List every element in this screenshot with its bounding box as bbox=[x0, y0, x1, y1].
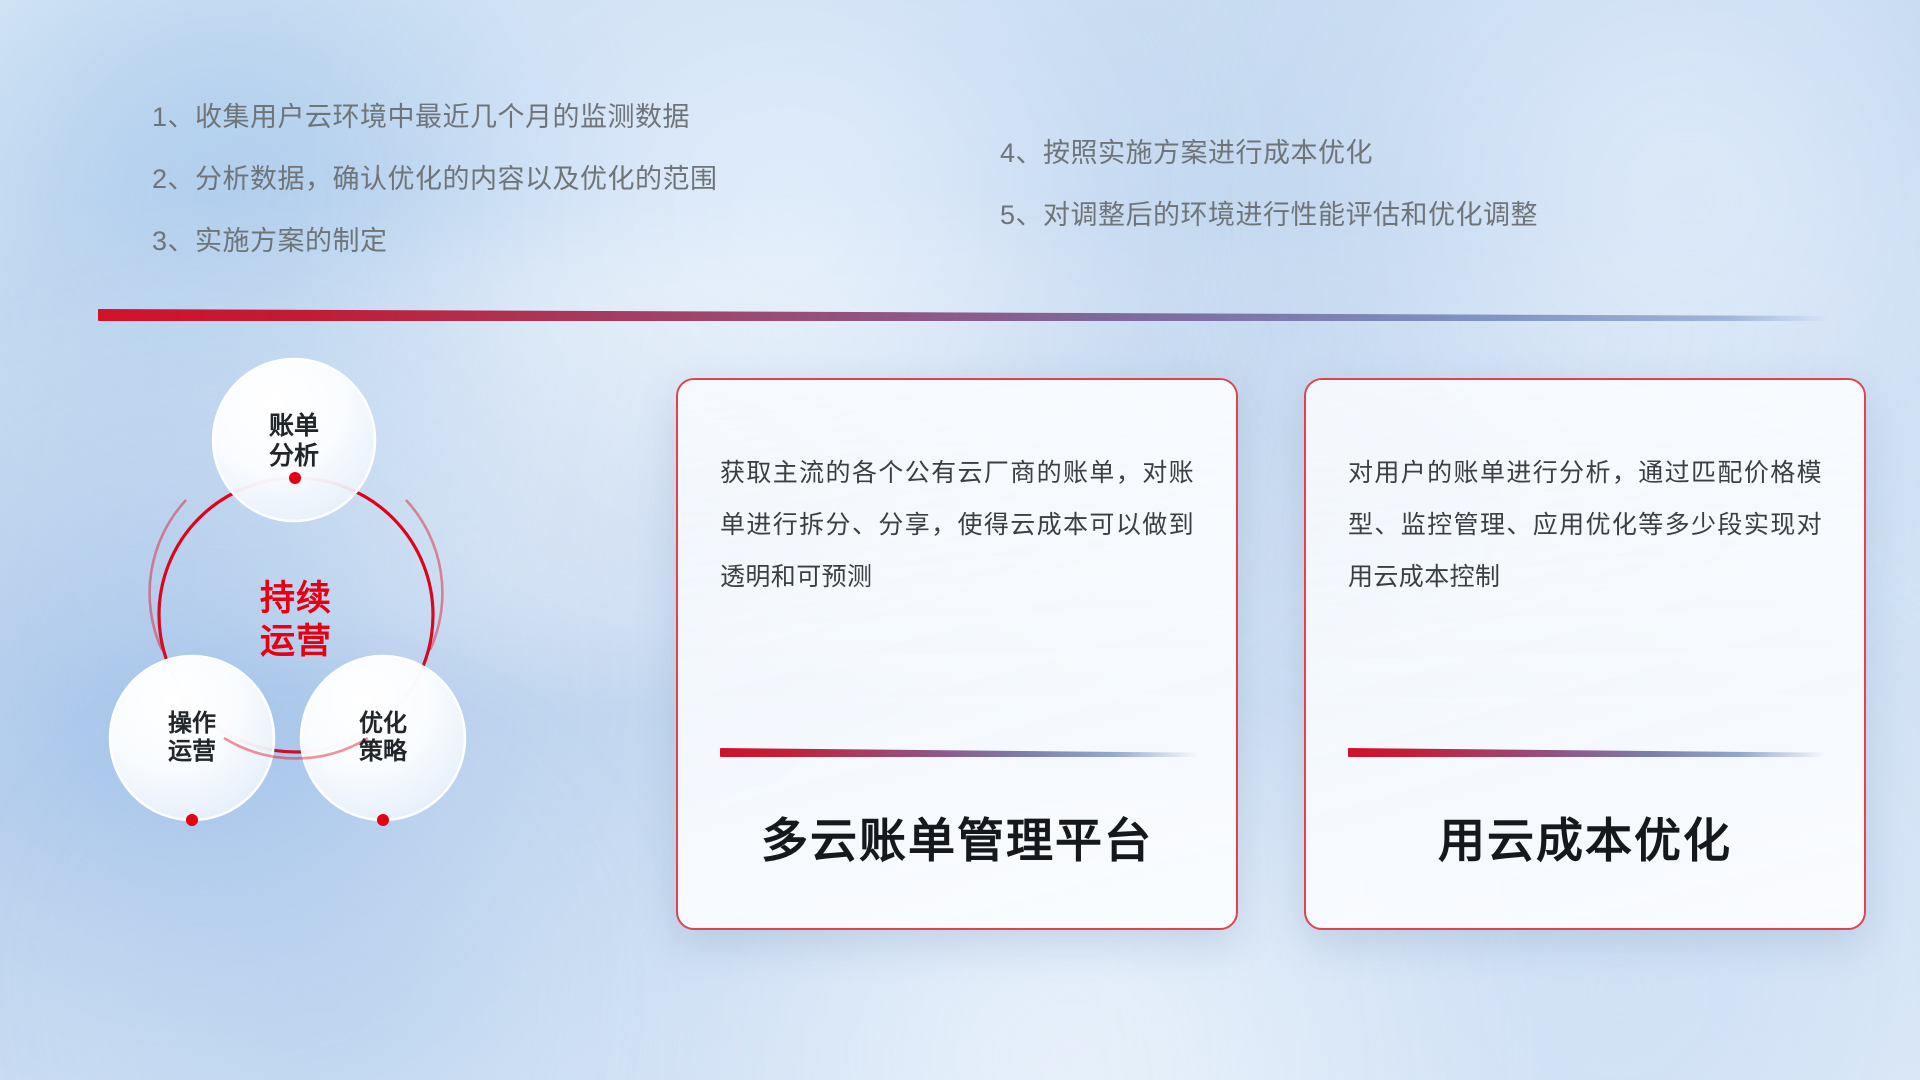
step-item-5: 5、对调整后的环境进行性能评估和优化调整 bbox=[1000, 202, 1538, 229]
step-item-1: 1、收集用户云环境中最近几个月的监测数据 bbox=[152, 104, 718, 131]
venn-label-optimization-strategy-line1: 优化 bbox=[333, 710, 433, 738]
card-multi-cloud-billing-title: 多云账单管理平台 bbox=[678, 802, 1236, 871]
slide-content: 1、收集用户云环境中最近几个月的监测数据 2、分析数据，确认优化的内容以及优化的… bbox=[0, 0, 1920, 1080]
step-item-3: 3、实施方案的制定 bbox=[152, 228, 718, 255]
card-multi-cloud-billing-divider-bar bbox=[720, 748, 1198, 757]
card-multi-cloud-billing-divider bbox=[720, 748, 1198, 757]
venn-diagram: 账单 分析 操作 运营 优化 策略 持续 运营 bbox=[96, 350, 656, 930]
venn-label-operation-line1: 操作 bbox=[142, 710, 242, 738]
venn-label-center-line1: 持续 bbox=[226, 578, 366, 621]
venn-label-optimization-strategy-line2: 策略 bbox=[333, 738, 433, 766]
card-cloud-cost-optimization-divider-bar bbox=[1348, 748, 1826, 757]
section-divider bbox=[98, 309, 1830, 321]
card-cloud-cost-optimization-divider bbox=[1348, 748, 1826, 757]
venn-node-dot-top bbox=[289, 472, 301, 484]
card-cloud-cost-optimization[interactable]: 对用户的账单进行分析，通过匹配价格模型、监控管理、应用优化等多少段实现对用云成本… bbox=[1304, 378, 1866, 930]
steps-left-column: 1、收集用户云环境中最近几个月的监测数据 2、分析数据，确认优化的内容以及优化的… bbox=[152, 104, 718, 290]
venn-label-optimization-strategy: 优化 策略 bbox=[333, 710, 433, 767]
card-multi-cloud-billing-body: 获取主流的各个公有云厂商的账单，对账单进行拆分、分享，使得云成本可以做到透明和可… bbox=[678, 380, 1236, 603]
step-item-2: 2、分析数据，确认优化的内容以及优化的范围 bbox=[152, 166, 718, 193]
venn-label-bill-analysis-line2: 分析 bbox=[244, 442, 344, 472]
step-item-4: 4、按照实施方案进行成本优化 bbox=[1000, 140, 1538, 167]
venn-label-operation-line2: 运营 bbox=[142, 738, 242, 766]
venn-diagram-svg bbox=[96, 350, 656, 930]
steps-right-column: 4、按照实施方案进行成本优化 5、对调整后的环境进行性能评估和优化调整 bbox=[1000, 140, 1538, 264]
venn-node-dot-right bbox=[377, 814, 389, 826]
venn-label-center-line2: 运营 bbox=[226, 621, 366, 664]
venn-label-bill-analysis: 账单 分析 bbox=[244, 412, 344, 471]
venn-node-dot-left bbox=[186, 814, 198, 826]
card-multi-cloud-billing[interactable]: 获取主流的各个公有云厂商的账单，对账单进行拆分、分享，使得云成本可以做到透明和可… bbox=[676, 378, 1238, 930]
cards-section: 获取主流的各个公有云厂商的账单，对账单进行拆分、分享，使得云成本可以做到透明和可… bbox=[676, 378, 1866, 930]
venn-label-bill-analysis-line1: 账单 bbox=[244, 412, 344, 442]
section-divider-bar bbox=[98, 309, 1830, 321]
card-cloud-cost-optimization-title: 用云成本优化 bbox=[1306, 802, 1864, 871]
venn-label-center: 持续 运营 bbox=[226, 578, 366, 663]
venn-label-operation: 操作 运营 bbox=[142, 710, 242, 767]
card-cloud-cost-optimization-body: 对用户的账单进行分析，通过匹配价格模型、监控管理、应用优化等多少段实现对用云成本… bbox=[1306, 380, 1864, 603]
